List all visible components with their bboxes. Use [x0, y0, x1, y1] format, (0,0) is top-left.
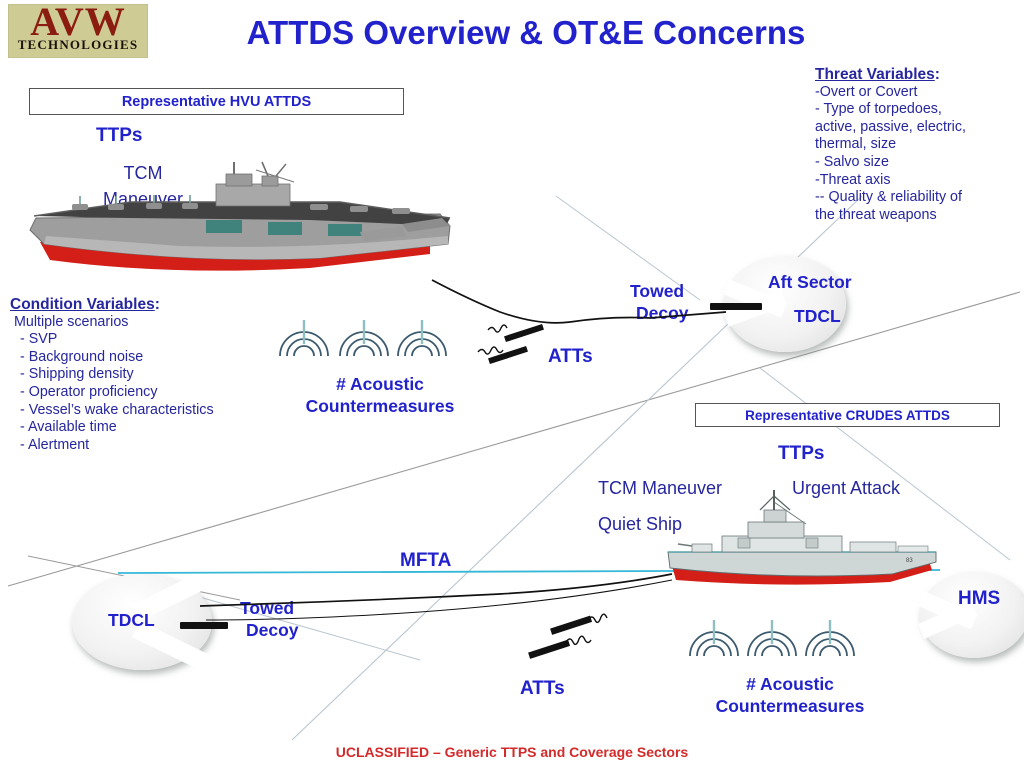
svg-text:83: 83 [906, 558, 913, 564]
crudes-ship-illustration: 83 [660, 494, 960, 594]
hvu-towed-cable [0, 0, 1024, 768]
